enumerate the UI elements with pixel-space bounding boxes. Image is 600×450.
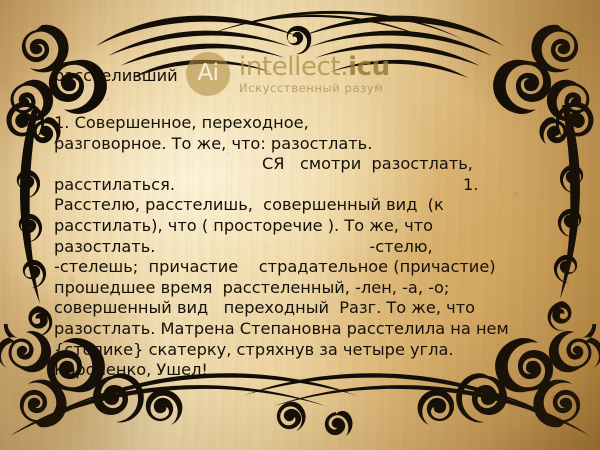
article-line-text: СЯ смотри разостлать, — [262, 154, 473, 173]
article-line: разговорное. То же, что: разостлать. — [54, 134, 548, 155]
article-line: 1. Совершенное, переходное, — [54, 113, 548, 134]
article-line: Расстелю, расстелишь, совершенный вид (к — [54, 195, 548, 216]
article-line: прошедшее время расстеленный, -лен, -а, … — [54, 278, 548, 299]
article-line: Короленко, Ушел! — [54, 360, 548, 381]
article-line-number: 1. — [463, 175, 478, 194]
article-line: расстилаться.1. — [54, 175, 548, 196]
article-line-text: разостлать. — [54, 237, 155, 256]
dictionary-article: расстеливший 1. Совершенное, переходное,… — [54, 66, 548, 381]
parchment-page: Ai intellect.icu Искусственный разум рас… — [0, 0, 600, 450]
article-line-text: -стелю, — [369, 237, 432, 256]
article-line: СЯ смотри разостлать, — [54, 154, 548, 175]
article-line: разостлать. Матрена Степановна расстелил… — [54, 319, 548, 340]
article-line: расстилать), что ( просторечие ). То же,… — [54, 216, 548, 237]
page-title: расстеливший — [54, 66, 548, 86]
article-line: совершенный вид переходный Разг. То же, … — [54, 298, 548, 319]
article-line-text: расстилаться. — [54, 175, 175, 194]
article-line: -стелешь; причастие страдательное (прича… — [54, 257, 548, 278]
article-line: разостлать.-стелю, — [54, 237, 548, 258]
article-line: {столике} скатерку, стряхнув за четыре у… — [54, 340, 548, 361]
